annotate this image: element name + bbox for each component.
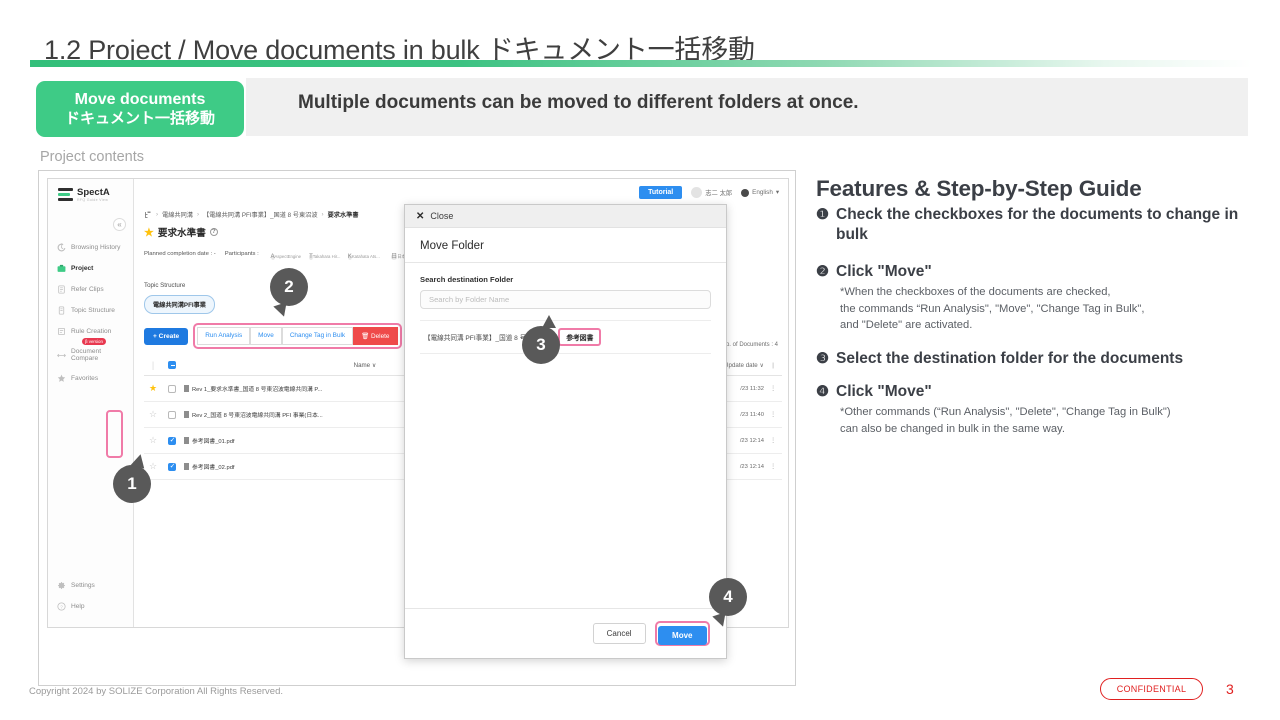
sidebar-label: Document Compare	[71, 348, 128, 362]
page-number: 3	[1226, 681, 1234, 697]
step-number: ❷	[816, 262, 829, 283]
app-logo: SpectA RFQ Guide View	[58, 188, 110, 202]
logo-name: SpectA	[77, 188, 110, 198]
column-sep: |	[764, 362, 782, 369]
step-note: and "Delete" are activated.	[840, 317, 1268, 333]
sidebar-item-favorites[interactable]: Favorites	[48, 368, 134, 389]
callout-number: 3	[536, 335, 545, 355]
user-name: 志二 太郎	[705, 188, 732, 197]
participant[interactable]: KKatahata Ats...	[346, 251, 382, 264]
step-note: *Other commands (“Run Analysis", "Delete…	[840, 404, 1268, 420]
title-divider	[30, 60, 1252, 67]
search-input[interactable]: Search by Folder Name	[420, 290, 711, 309]
row-checkbox[interactable]	[162, 385, 182, 393]
step-text: Click "Move"	[836, 262, 932, 282]
participant-name: Katahata Ats...	[352, 254, 380, 259]
banner-description: Multiple documents can be moved to diffe…	[298, 92, 859, 114]
participants-label: Participants :	[225, 251, 259, 257]
participant-name: AspectEngine	[275, 254, 302, 259]
callout-1: 1	[113, 465, 151, 503]
file-icon	[184, 437, 189, 444]
clips-icon	[57, 285, 66, 294]
rule-icon	[57, 327, 66, 336]
completion-date: Planned completion date : -	[144, 251, 216, 257]
sidebar-label: Favorites	[71, 375, 98, 382]
step-note: *When the checkboxes of the documents ar…	[840, 284, 1268, 300]
row-menu-icon[interactable]: ⋮	[764, 464, 782, 470]
sidebar-nav-bottom: Settings ? Help	[48, 575, 134, 617]
callout-3: 3	[522, 326, 560, 364]
modal-close-bar[interactable]: ✕ Close	[405, 205, 726, 228]
summary-banner: Multiple documents can be moved to diffe…	[36, 78, 1248, 136]
move-folder-modal: ✕ Close Move Folder Search destination F…	[404, 204, 727, 659]
topic-icon	[57, 306, 66, 315]
move-confirm-button[interactable]: Move	[658, 626, 706, 645]
topic-chip[interactable]: 電線共同溝PFI事業	[144, 295, 215, 314]
sidebar-item-topic-structure[interactable]: Topic Structure	[48, 300, 134, 321]
guide-step-3: ❸ Select the destination folder for the …	[816, 349, 1268, 370]
document-name: 参考図書_01.pdf	[192, 436, 235, 445]
file-icon	[184, 385, 189, 392]
project-icon	[57, 264, 66, 273]
callout-2: 2	[270, 268, 308, 306]
step-number: ❹	[816, 382, 829, 403]
logo-tagline: RFQ Guide View	[77, 198, 110, 202]
language-label: English	[752, 189, 773, 196]
callout-number: 4	[723, 587, 732, 607]
step-number: ❸	[816, 349, 829, 370]
select-all-checkbox[interactable]	[162, 361, 182, 369]
sidebar-item-refer-clips[interactable]: Refer Clips	[48, 279, 134, 300]
close-icon: ✕	[416, 211, 424, 222]
change-tag-in-bulk-button[interactable]: Change Tag in Bulk	[282, 327, 353, 345]
sidebar-label: Project	[71, 265, 93, 272]
selected-folder[interactable]: 参考図書	[558, 328, 601, 346]
favorite-star-icon[interactable]: ☆	[144, 409, 162, 420]
callout-4: 4	[709, 578, 747, 616]
breadcrumb-item-0[interactable]: 電線共同溝	[162, 210, 193, 219]
breadcrumb-sep: ›	[197, 211, 199, 218]
guide-panel: Features & Step-by-Step Guide ❶ Check th…	[816, 176, 1268, 437]
breadcrumb-sep: ›	[322, 211, 324, 218]
compare-icon	[57, 351, 66, 360]
move-button[interactable]: Move	[250, 327, 282, 345]
modal-body: Search destination Folder Search by Fold…	[405, 263, 726, 354]
section-label: Project contents	[40, 149, 144, 165]
documents-count: No. of Documents : 4	[722, 342, 778, 348]
help-icon: ?	[57, 602, 66, 611]
globe-icon	[741, 189, 749, 197]
folder-tree-icon	[144, 211, 152, 219]
sidebar-label: Browsing History	[71, 244, 120, 251]
move-button-highlight: Move	[655, 621, 710, 646]
favorite-star-icon[interactable]: ☆	[144, 461, 162, 472]
row-checkbox[interactable]	[162, 437, 182, 445]
callout-number: 2	[284, 277, 293, 297]
row-checkbox[interactable]	[162, 463, 182, 471]
cancel-button[interactable]: Cancel	[593, 623, 646, 644]
svg-text:?: ?	[60, 604, 63, 609]
sidebar-item-rule-creation[interactable]: Rule Creation β version	[48, 321, 134, 342]
document-title-text: 要求水準書	[158, 225, 206, 239]
topic-structure-label: Topic Structure	[144, 282, 185, 289]
sidebar-item-settings[interactable]: Settings	[48, 575, 134, 596]
guide-step-2: ❷ Click "Move" *When the checkboxes of t…	[816, 262, 1268, 333]
feature-badge: Move documents ドキュメント一括移動	[36, 81, 244, 137]
favorite-star-icon[interactable]: ★	[144, 383, 162, 394]
chevron-down-icon: ▾	[776, 189, 779, 196]
breadcrumb-item-1[interactable]: 【電線共同溝 PFI事業】_国道 8 号東沼波	[203, 210, 317, 219]
logo-mark-icon	[58, 188, 73, 201]
language-selector[interactable]: English ▾	[741, 189, 779, 197]
feature-badge-line2: ドキュメント一括移動	[65, 110, 215, 129]
callout-tail	[542, 315, 556, 328]
column-sep: |	[144, 360, 162, 370]
document-name: Rev 1_要求水準書_国道 8 号東沼波電線共同溝 P...	[192, 384, 322, 393]
sidebar-item-help[interactable]: ? Help	[48, 596, 134, 617]
modal-footer: Cancel Move	[405, 608, 726, 658]
user-menu[interactable]: 志二 太郎	[691, 187, 732, 198]
app-sidebar: SpectA RFQ Guide View « Browsing History…	[48, 179, 134, 628]
search-field-label: Search destination Folder	[420, 275, 711, 284]
sidebar-label: Topic Structure	[71, 307, 115, 314]
sidebar-item-project[interactable]: Project	[48, 258, 134, 279]
sidebar-item-document-compare[interactable]: Document Compare	[48, 342, 134, 368]
participant[interactable]: TTakahara Hir...	[307, 251, 343, 264]
avatar	[691, 187, 702, 198]
copyright-text: Copyright 2024 by SOLIZE Corporation All…	[29, 686, 283, 697]
confidential-badge: CONFIDENTIAL	[1100, 678, 1203, 700]
gear-icon	[57, 581, 66, 590]
bulk-command-group: Run Analysis Move Change Tag in Bulk 🗑 D…	[193, 323, 401, 349]
document-name: 参考図書_02.pdf	[192, 462, 235, 471]
row-menu-icon[interactable]: ⋮	[764, 438, 782, 444]
modal-heading: Move Folder	[405, 228, 726, 263]
breadcrumb-item-2: 要求水準書	[328, 210, 359, 219]
sidebar-label: Refer Clips	[71, 286, 104, 293]
row-checkbox[interactable]	[162, 411, 182, 419]
sidebar-nav: Browsing History Project Refer Clips Top…	[48, 237, 134, 389]
breadcrumb: › 電線共同溝 › 【電線共同溝 PFI事業】_国道 8 号東沼波 › 要求水準…	[144, 210, 359, 219]
step-text: Check the checkboxes for the documents t…	[836, 205, 1268, 246]
delete-button[interactable]: 🗑 Delete	[353, 327, 397, 345]
sidebar-item-browsing-history[interactable]: Browsing History	[48, 237, 134, 258]
slide-root: 1.2 Project / Move documents in bulk ドキュ…	[0, 0, 1280, 720]
step-text: Select the destination folder for the do…	[836, 349, 1183, 369]
app-topbar: Tutorial 志二 太郎 English ▾	[134, 179, 788, 206]
row-menu-icon[interactable]: ⋮	[764, 412, 782, 418]
star-icon	[57, 374, 66, 383]
participant-name: Takahara Hir...	[313, 254, 341, 259]
sidebar-label: Settings	[71, 582, 95, 589]
step-note: the commands “Run Analysis", "Move", "Ch…	[840, 301, 1268, 317]
help-icon[interactable]: ?	[210, 228, 218, 236]
sidebar-collapse-button[interactable]: «	[113, 218, 126, 231]
modal-close-label: Close	[430, 211, 453, 221]
folder-breadcrumb-row: 【電線共同溝 PFI事業】_国道 8 号東沼波 › 参考図書	[420, 320, 711, 354]
participant[interactable]: AAspectEngine	[268, 251, 304, 264]
callout-number: 1	[127, 474, 136, 494]
sidebar-label: Help	[71, 603, 85, 610]
feature-badge-line1: Move documents	[75, 90, 206, 110]
step-number: ❶	[816, 205, 829, 226]
breadcrumb-sep: ›	[156, 211, 158, 218]
sidebar-label: Rule Creation	[71, 328, 111, 335]
document-title: ★ 要求水準書 ?	[144, 225, 218, 239]
step-note: can also be changed in bulk in the same …	[840, 421, 1268, 437]
step-text: Click "Move"	[836, 382, 932, 402]
row-menu-icon[interactable]: ⋮	[764, 386, 782, 392]
run-analysis-button[interactable]: Run Analysis	[197, 327, 250, 345]
document-name: Rev 2_国道 8 号東沼波電線共同溝 PFI 事業(日本...	[192, 410, 323, 419]
history-icon	[57, 243, 66, 252]
guide-step-1: ❶ Check the checkboxes for the documents…	[816, 205, 1268, 246]
file-icon	[184, 411, 189, 418]
star-icon[interactable]: ★	[144, 226, 154, 239]
guide-step-4: ❹ Click "Move" *Other commands (“Run Ana…	[816, 382, 1268, 437]
create-button[interactable]: + Create	[144, 328, 188, 345]
guide-heading: Features & Step-by-Step Guide	[816, 176, 1268, 202]
favorite-star-icon[interactable]: ☆	[144, 435, 162, 446]
file-icon	[184, 463, 189, 470]
tutorial-button[interactable]: Tutorial	[639, 186, 682, 199]
